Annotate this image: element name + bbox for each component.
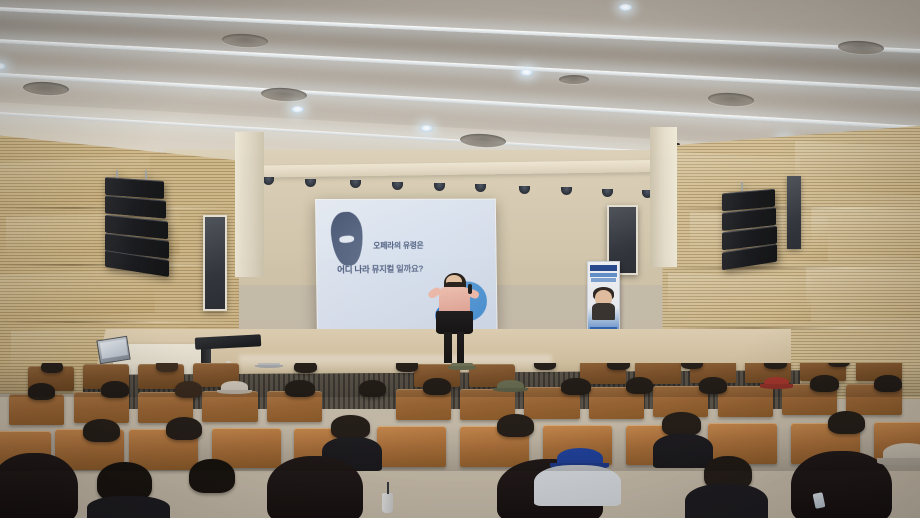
wall-facet: [811, 207, 920, 259]
audience-head: [28, 383, 56, 400]
slide-text-line-2: 어디 나라 뮤지컬 일까요?: [338, 262, 424, 275]
audience-cap: [221, 381, 249, 393]
seat: [202, 391, 257, 422]
audience-body: [685, 484, 768, 518]
audience-head: [166, 417, 203, 440]
presenter: [426, 275, 483, 365]
audience-head: [626, 377, 654, 394]
audience-head: [83, 419, 120, 442]
wall-facet: [795, 141, 920, 196]
audience-longhair: [0, 453, 78, 518]
audience-head: [497, 414, 534, 437]
audience-head: [874, 375, 902, 392]
audience-head: [285, 380, 314, 397]
banner-header-bar: [590, 265, 616, 270]
audience-head: [699, 377, 727, 394]
audience-head: [396, 363, 418, 372]
audience-head: [189, 459, 235, 493]
presenter-leg-left: [444, 332, 451, 363]
audience-head: [764, 363, 787, 369]
audience-head: [294, 363, 317, 374]
audience-head: [156, 363, 178, 372]
wall-dark-recess: [787, 176, 802, 249]
line-array-speaker-left: [105, 176, 169, 282]
audience-body-hoodie: [534, 465, 621, 505]
audience-head: [423, 378, 451, 395]
audience-cap: [451, 363, 473, 369]
ceiling-spotlight: [420, 125, 433, 132]
audience-cap: [764, 377, 790, 388]
audience-cap-beige: [883, 443, 920, 463]
audience-area: [0, 363, 920, 518]
audience-head: [41, 363, 63, 374]
audience-head: [331, 415, 370, 438]
audience-head: [607, 363, 630, 371]
presenter-leg-right: [457, 332, 464, 363]
banner-title-line: [590, 273, 616, 277]
phantom-mask-icon: [330, 211, 365, 267]
wall-seam: [0, 321, 239, 323]
audience-cap: [258, 363, 280, 368]
seat: [377, 426, 446, 466]
auditorium-photo: 오페라의 유령은 어디 나라 뮤지컬 일까요? SMU2024: [0, 0, 920, 518]
audience-body: [653, 434, 713, 468]
audience-head: [101, 381, 129, 398]
line-array-speaker-right: [722, 189, 777, 280]
drink-cup: [382, 493, 393, 513]
microphone-icon: [468, 284, 472, 294]
stage-pillar-left: [235, 132, 264, 277]
audience-head: [175, 381, 203, 398]
audience-cap: [497, 380, 525, 392]
ceiling-spotlight: [619, 4, 632, 11]
presenter-skirt: [436, 311, 473, 334]
slide-text-line-1: 오페라의 유령은: [374, 240, 424, 251]
speaker-rigging-rod: [741, 182, 743, 192]
audience-head: [828, 411, 865, 434]
air-vent-icon: [559, 75, 589, 84]
audience-head: [681, 363, 703, 369]
audience-head: [534, 363, 556, 371]
audience-head: [561, 378, 590, 395]
audience-longhair: [267, 456, 364, 518]
wall-facet: [668, 273, 812, 322]
wall-display-panel-left: [203, 215, 227, 311]
presenter-torso: [439, 287, 471, 314]
banner-subtitle-line: [591, 278, 616, 281]
ceiling-spotlight: [520, 69, 533, 76]
wall-facet: [806, 267, 920, 319]
stage-pillar-right: [650, 127, 678, 267]
audience-head: [662, 412, 701, 435]
audience-body: [87, 496, 170, 518]
downlight-icon: [602, 189, 613, 197]
audience-head: [359, 380, 387, 397]
audience-head: [810, 375, 839, 392]
lectern-laptop: [96, 335, 131, 363]
speaker-banner: [587, 261, 620, 341]
banner-portrait-body: [592, 303, 614, 320]
wall-seam: [662, 267, 920, 269]
